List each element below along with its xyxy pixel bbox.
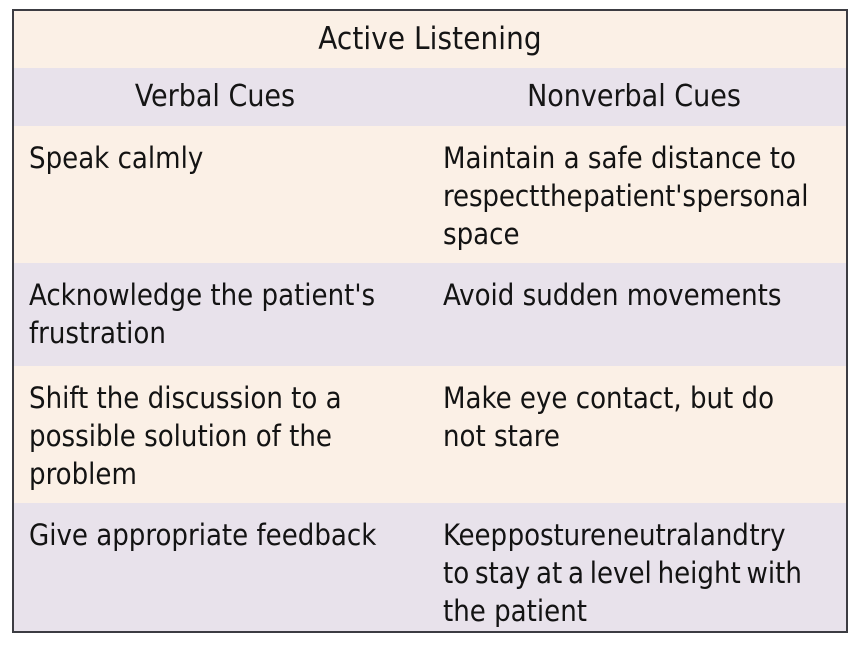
active-listening-table: Active Listening Verbal Cues Nonverbal C…: [12, 9, 848, 633]
cell-nonverbal: Make eye contact, but do not stare: [440, 366, 846, 503]
column-header-label: Verbal Cues: [135, 82, 295, 112]
cell-nonverbal: Keep posture neutral and try to stay at …: [440, 503, 846, 631]
cell-line: Avoid sudden movements: [443, 276, 838, 314]
column-header-nonverbal-cues: Nonverbal Cues: [440, 68, 846, 126]
table-row: Shift the discussion to a possible solut…: [14, 366, 846, 503]
cell-verbal: Acknowledge the patient's frustration: [14, 263, 440, 366]
table-header-row: Verbal Cues Nonverbal Cues: [14, 68, 846, 126]
cell-verbal: Give appropriate feedback: [14, 503, 440, 631]
cell-line: Give appropriate feedback: [29, 516, 430, 554]
cell-verbal: Shift the discussion to a possible solut…: [14, 366, 440, 503]
table-title: Active Listening: [318, 24, 541, 55]
cell-line: problem: [29, 455, 430, 493]
cell-nonverbal: Avoid sudden movements: [440, 263, 846, 366]
cell-line: Make eye contact, but do: [443, 379, 838, 417]
table-row: Acknowledge the patient's frustration Av…: [14, 263, 846, 366]
table-row: Speak calmly Maintain a safe distance to…: [14, 126, 846, 263]
table-title-row: Active Listening: [14, 11, 846, 68]
cell-line: possible solution of the: [29, 417, 430, 455]
cell-line: the patient: [443, 592, 838, 630]
cell-verbal: Speak calmly: [14, 126, 440, 263]
cell-line: Maintain a safe distance to: [443, 139, 838, 177]
cell-line: to stay at a level height with: [443, 554, 838, 592]
cell-line: Speak calmly: [29, 139, 430, 177]
table-row: Give appropriate feedback Keep posture n…: [14, 503, 846, 631]
cell-line: Acknowledge the patient's: [29, 276, 430, 314]
column-header-verbal-cues: Verbal Cues: [14, 68, 440, 126]
cell-line: respect the patient's personal: [443, 177, 838, 215]
column-header-label: Nonverbal Cues: [527, 82, 741, 112]
cell-line: Shift the discussion to a: [29, 379, 430, 417]
cell-line: frustration: [29, 314, 430, 352]
cell-line: space: [443, 215, 838, 253]
cell-line: Keep posture neutral and try: [443, 516, 838, 554]
cell-line: not stare: [443, 417, 838, 455]
cell-nonverbal: Maintain a safe distance to respect the …: [440, 126, 846, 263]
